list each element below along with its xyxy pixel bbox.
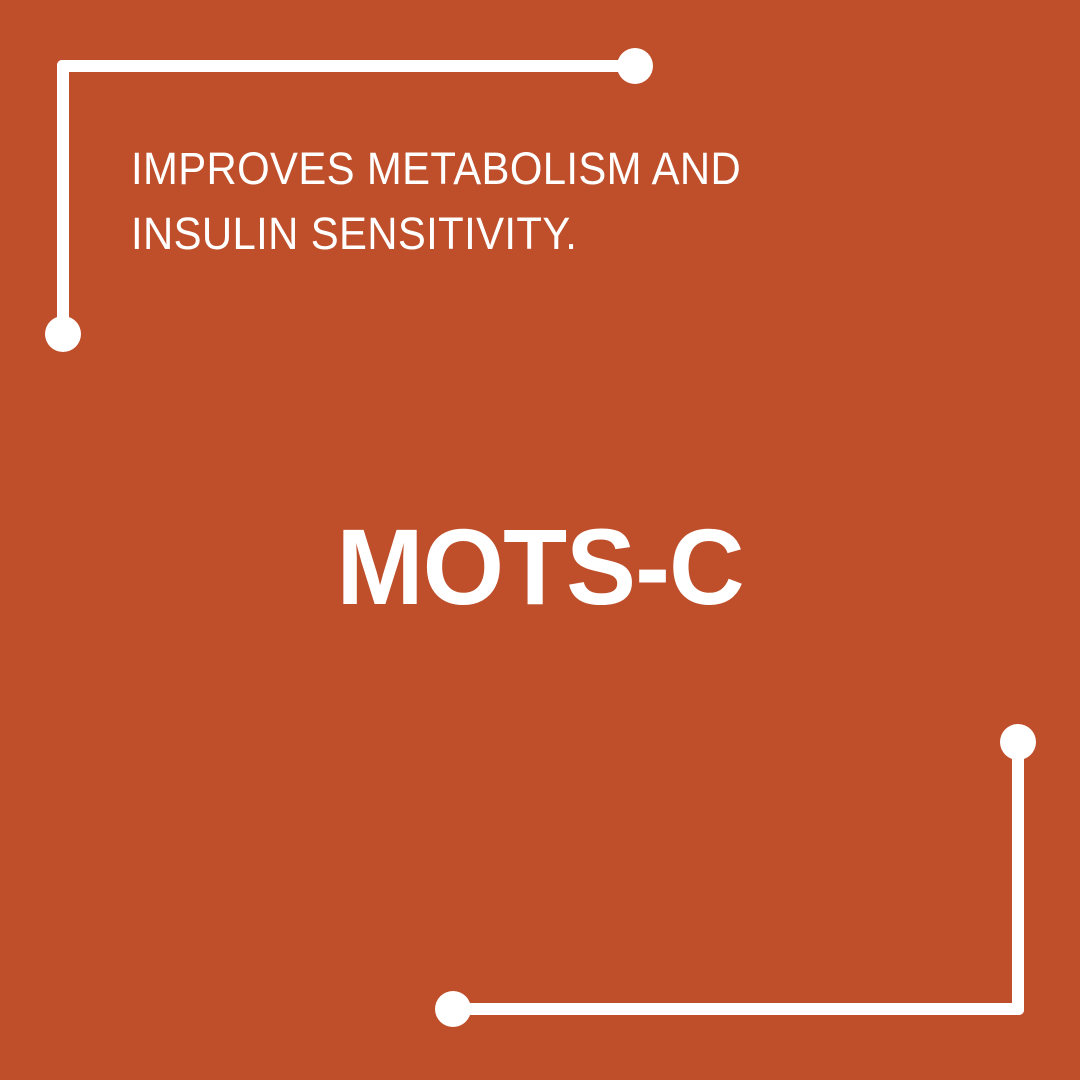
bracket-vertical-rule (57, 60, 69, 338)
peptide-name-title: MOTS-C (16, 508, 1064, 626)
bracket-horizontal-rule (452, 1003, 1024, 1015)
benefit-statement: IMPROVES METABOLISM AND INSULIN SENSITIV… (131, 136, 801, 266)
bracket-end-dot-top (1000, 724, 1036, 760)
bracket-end-dot-right (617, 48, 653, 84)
bracket-horizontal-rule (57, 60, 637, 72)
bracket-vertical-rule (1012, 742, 1024, 1015)
bracket-end-dot-bottom (45, 316, 81, 352)
bracket-end-dot-left (435, 991, 471, 1027)
promo-card: IMPROVES METABOLISM AND INSULIN SENSITIV… (0, 0, 1080, 1080)
